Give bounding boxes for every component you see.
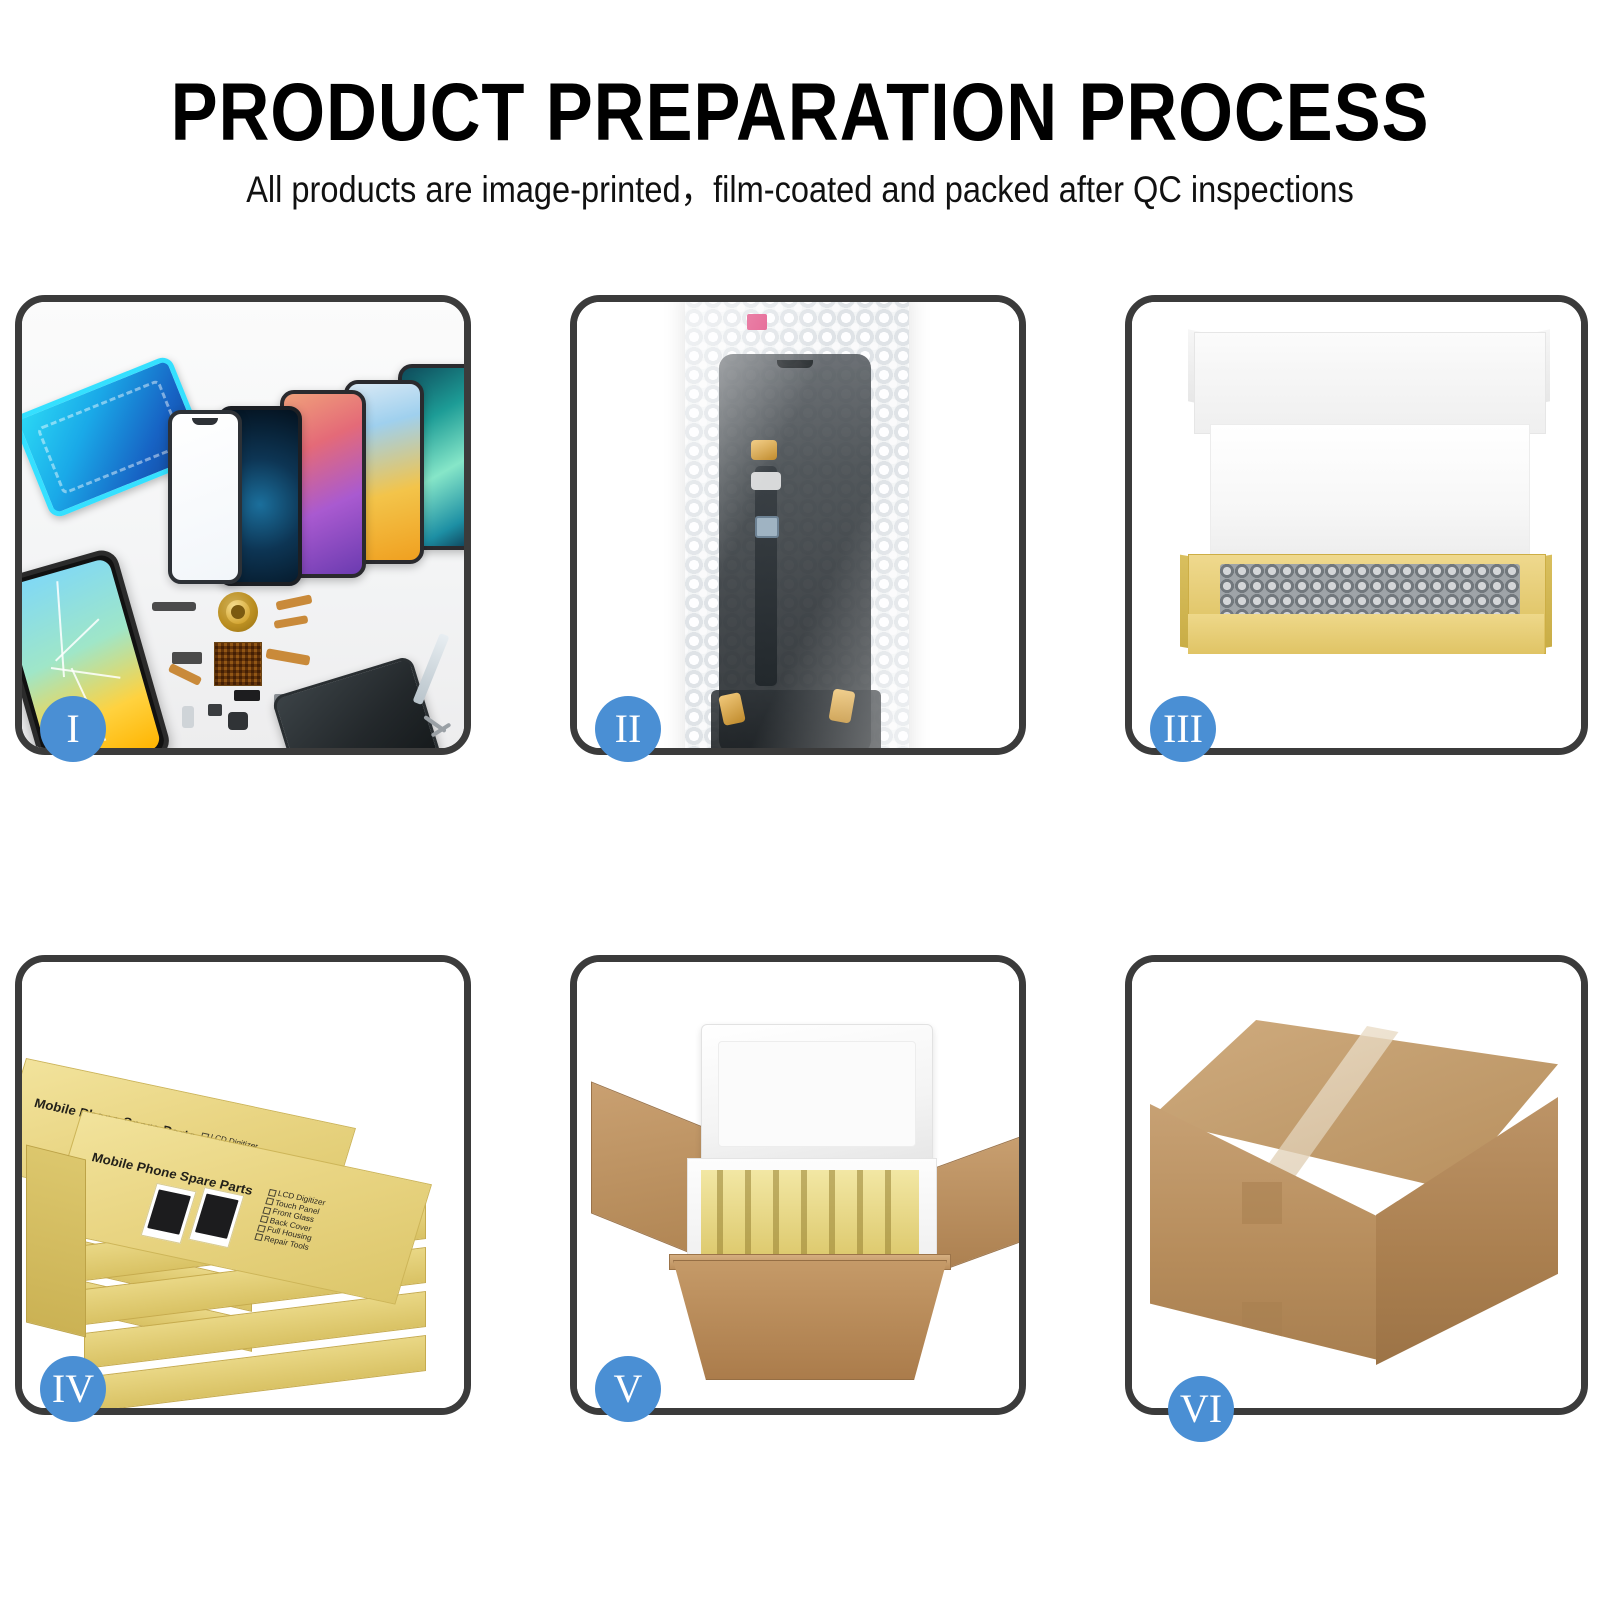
step-panel-3[interactable]: III (1125, 295, 1588, 755)
stack-left-side (26, 1145, 86, 1338)
sim-tray-part (182, 706, 194, 728)
retail-box-stack: Mobile Phone Spare Parts LCD Digitizer T… (22, 1002, 464, 1408)
ic-chip-part (234, 690, 260, 701)
step-panel-6[interactable]: VI (1125, 955, 1588, 1415)
crack-line (51, 667, 121, 679)
step-badge-5: V (595, 1356, 661, 1422)
step-badge-4: IV (40, 1356, 106, 1422)
step-badge-6: VI (1168, 1376, 1234, 1442)
step-panel-4[interactable]: Mobile Phone Spare Parts LCD Digitizer T… (15, 955, 471, 1415)
small-connector-part (172, 652, 202, 664)
front-glass-panel (168, 410, 242, 584)
step-image-2 (577, 302, 1019, 748)
camera-module-part (208, 704, 222, 716)
step-panel-5[interactable]: V (570, 955, 1026, 1415)
step-badge-2: II (595, 696, 661, 762)
step-image-1 (22, 302, 464, 748)
step-panel-1[interactable]: I (15, 295, 471, 755)
crack-line (56, 581, 65, 677)
step-panel-2[interactable]: II (570, 295, 1026, 755)
bubble-wrap-sleeve (685, 302, 909, 748)
process-step-grid: I II (0, 0, 1600, 1600)
retail-box-checklist: LCD Digitizer Touch Panel Front Glass Ba… (254, 1187, 326, 1252)
styrofoam-lid (701, 1024, 933, 1164)
box-phone-image (141, 1183, 197, 1244)
kraft-box-front-wall (1188, 614, 1544, 654)
box-lid (1194, 332, 1546, 434)
tape-patch (1242, 1182, 1282, 1224)
step-badge-1: I (40, 696, 106, 762)
earpiece-mesh-part (152, 602, 196, 611)
plastic-sheen (685, 302, 909, 748)
step-image-3 (1132, 302, 1581, 748)
box-phone-image (188, 1187, 244, 1248)
logic-board-part (214, 642, 262, 686)
wireless-charging-coil (218, 592, 258, 632)
step-image-4: Mobile Phone Spare Parts LCD Digitizer T… (22, 962, 464, 1408)
outer-carton-body (673, 1260, 947, 1380)
step-image-6 (1132, 962, 1581, 1408)
step-badge-3: III (1150, 696, 1216, 762)
speaker-part (228, 712, 248, 730)
packed-retail-boxes (701, 1170, 919, 1258)
step-image-5 (577, 962, 1019, 1408)
